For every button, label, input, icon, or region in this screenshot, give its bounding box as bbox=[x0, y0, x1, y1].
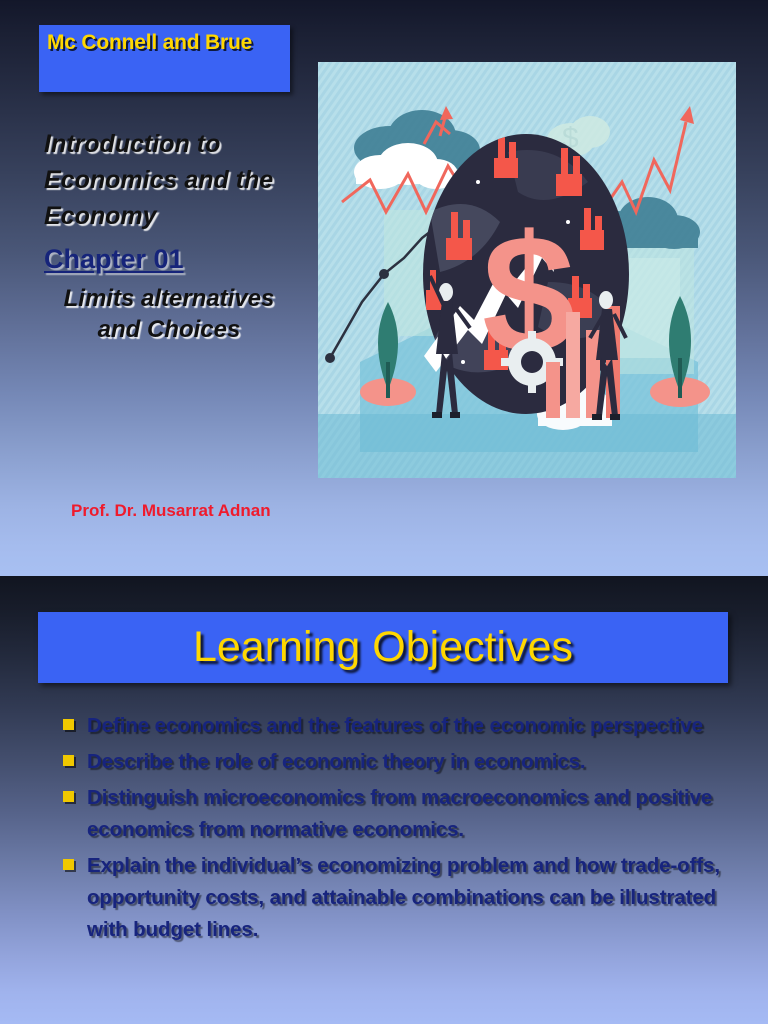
bullet-square-icon bbox=[63, 859, 74, 870]
chapter-subtitle: Limits alternatives and Choices bbox=[40, 283, 298, 345]
global-economy-illustration: $ bbox=[318, 62, 736, 478]
chapter-label: Chapter 01 bbox=[44, 244, 184, 275]
presenter-name: Prof. Dr. Musarrat Adnan bbox=[71, 501, 271, 521]
list-item: Describe the role of economic theory in … bbox=[63, 746, 733, 778]
list-item: Define economics and the features of the… bbox=[63, 710, 733, 742]
list-item: Explain the individual’s economizing pro… bbox=[63, 850, 733, 946]
bullet-square-icon bbox=[63, 791, 74, 802]
learning-objectives-slide: Learning Objectives Define economics and… bbox=[0, 576, 768, 1024]
objective-text: Distinguish microeconomics from macroeco… bbox=[87, 782, 733, 846]
objectives-title-label: Learning Objectives bbox=[38, 612, 728, 683]
list-item: Distinguish microeconomics from macroeco… bbox=[63, 782, 733, 846]
objectives-list: Define economics and the features of the… bbox=[63, 710, 733, 950]
objective-text: Define economics and the features of the… bbox=[87, 710, 733, 742]
objective-text: Explain the individual’s economizing pro… bbox=[87, 850, 733, 946]
bullet-square-icon bbox=[63, 755, 74, 766]
objectives-title-banner: Learning Objectives bbox=[38, 612, 728, 683]
author-banner-label: Mc Connell and Brue bbox=[47, 29, 285, 57]
author-banner: Mc Connell and Brue bbox=[39, 25, 290, 92]
slide-deck: Mc Connell and Brue Introduction to Econ… bbox=[0, 0, 768, 1024]
objective-text: Describe the role of economic theory in … bbox=[87, 746, 733, 778]
illustration-graphic: $ bbox=[318, 62, 736, 478]
title-slide: Mc Connell and Brue Introduction to Econ… bbox=[0, 0, 768, 576]
bullet-square-icon bbox=[63, 719, 74, 730]
book-title: Introduction to Economics and the Econom… bbox=[44, 126, 309, 234]
